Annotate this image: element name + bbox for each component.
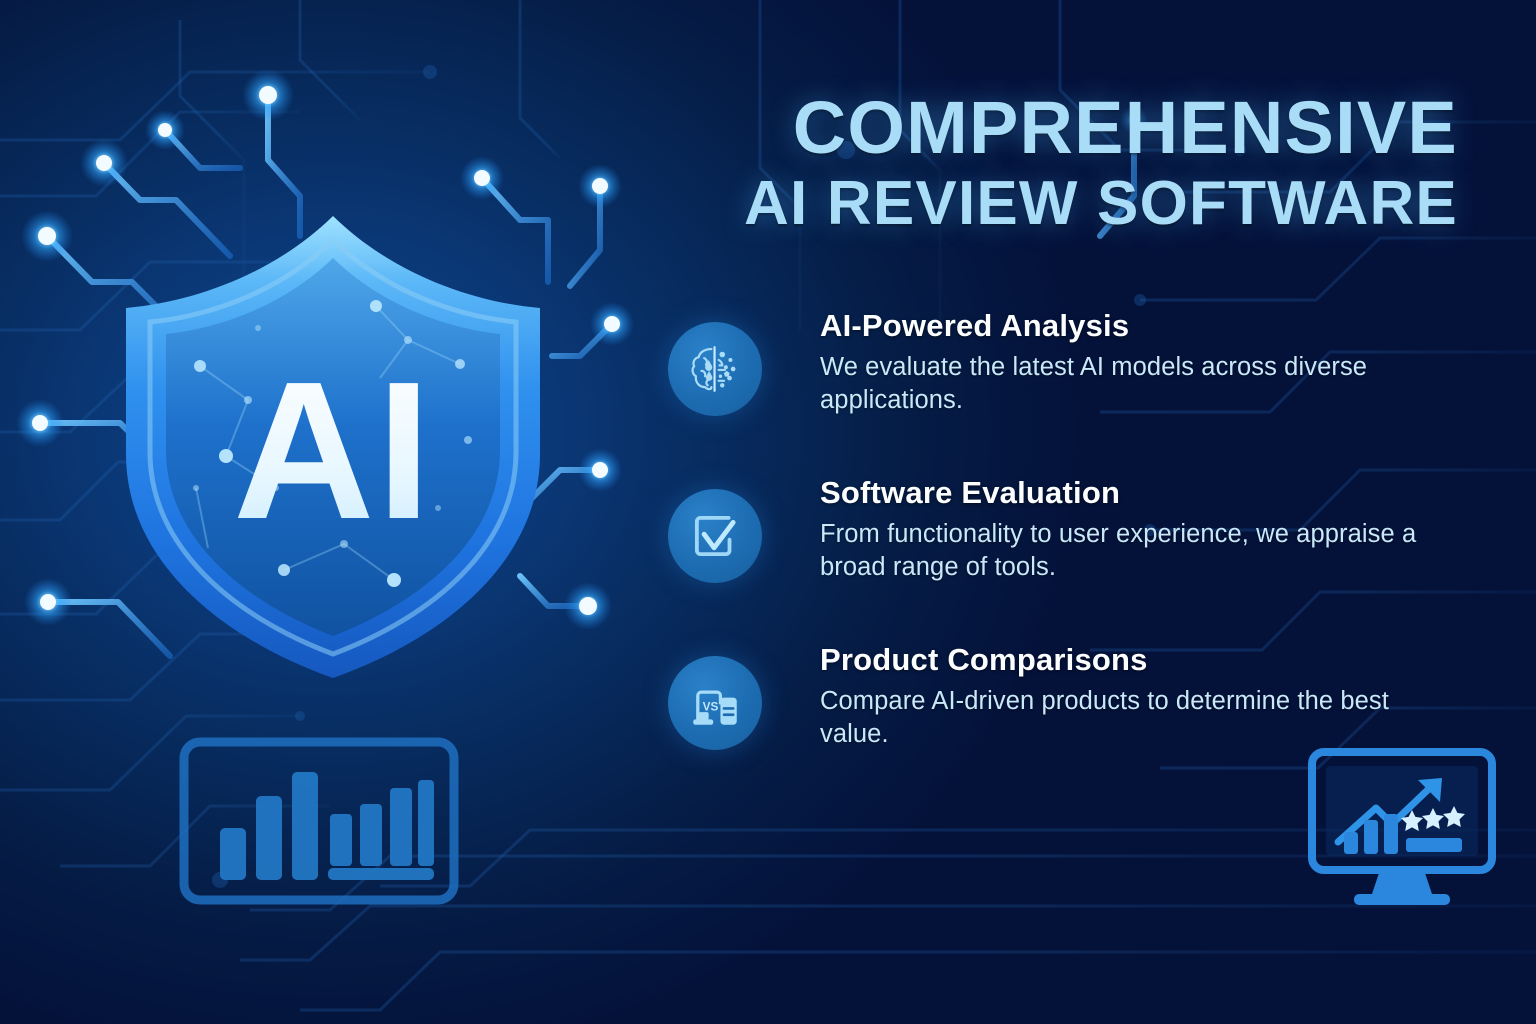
feature-item: VS Product Comparisons Compare AI-driven… <box>668 639 1468 751</box>
vs-label: VS <box>703 700 719 713</box>
feature-list: AI-Powered Analysis We evaluate the late… <box>668 305 1468 751</box>
headline-line-1: COMPREHENSIVE <box>678 92 1458 165</box>
poster-canvas: AI COMPREHENSIVE AI <box>0 0 1536 1024</box>
bar-chart-icon <box>178 736 460 906</box>
feature-text: Product Comparisons Compare AI-driven pr… <box>820 639 1420 751</box>
monitor-analytics-icon <box>1306 746 1498 916</box>
feature-title: Software Evaluation <box>820 476 1420 511</box>
content-column: COMPREHENSIVE AI REVIEW SOFTWARE <box>660 0 1536 1024</box>
feature-description: From functionality to user experience, w… <box>820 518 1420 584</box>
checkbox-check-icon <box>668 489 762 583</box>
feature-item: Software Evaluation From functionality t… <box>668 472 1468 584</box>
shield-ai-label: AI <box>233 341 433 560</box>
feature-item: AI-Powered Analysis We evaluate the late… <box>668 305 1468 417</box>
feature-title: Product Comparisons <box>820 643 1420 678</box>
feature-description: Compare AI-driven products to determine … <box>820 685 1420 751</box>
product-compare-icon: VS <box>668 656 762 750</box>
feature-text: AI-Powered Analysis We evaluate the late… <box>820 305 1420 417</box>
page-title: COMPREHENSIVE AI REVIEW SOFTWARE <box>678 92 1458 235</box>
ai-shield-icon: AI <box>108 188 558 688</box>
feature-description: We evaluate the latest AI models across … <box>820 351 1420 417</box>
logo-block: AI <box>0 0 660 1024</box>
feature-title: AI-Powered Analysis <box>820 309 1420 344</box>
headline-line-2: AI REVIEW SOFTWARE <box>678 173 1458 235</box>
ai-brain-icon <box>668 322 762 416</box>
feature-text: Software Evaluation From functionality t… <box>820 472 1420 584</box>
